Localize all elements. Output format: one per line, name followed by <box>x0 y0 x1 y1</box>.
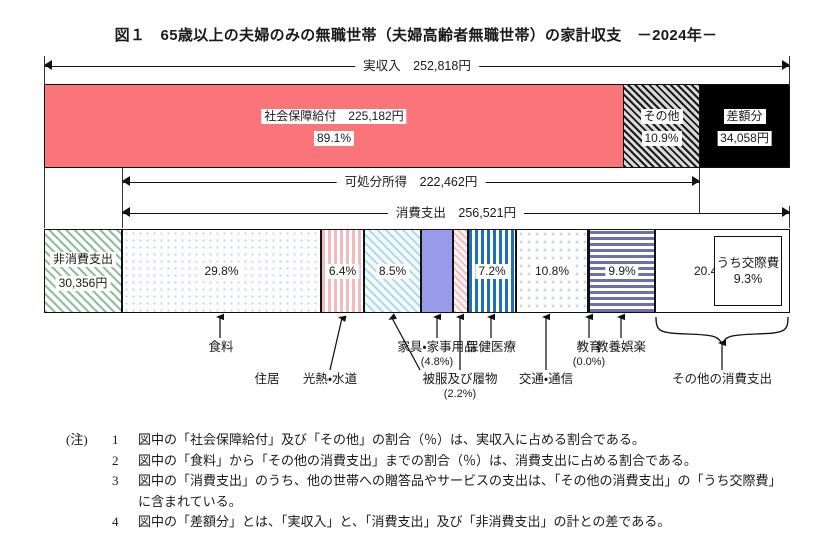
note-text: に含まれている。 <box>138 492 826 513</box>
callout-culture-label: 教養娯楽 <box>596 340 646 354</box>
expenditure-segment-clothing <box>453 229 468 313</box>
income-social-security-amount: 社会保障給付 225,182円 <box>261 109 406 124</box>
income-social-security-percent: 89.1% <box>314 131 354 146</box>
note-number: 1 <box>112 430 138 451</box>
measure-label-consumption-expenditure: 消費支出 256,521円 <box>388 205 524 221</box>
callout-housing-label: 住居 <box>254 372 279 386</box>
note-row: (注) 1 図中の「社会保障給付」及び「その他」の割合（％）は、実収入に占める割… <box>66 430 826 451</box>
callout-culture: 教養娯楽 <box>587 340 655 355</box>
housing-percent: 6.4% <box>326 264 359 279</box>
callout-medical-label: 保健医療 <box>466 340 516 354</box>
brace-other-consumption <box>656 317 788 344</box>
measure-label-actual-income: 実収入 252,818円 <box>355 58 479 74</box>
culture-percent: 9.9% <box>605 264 638 279</box>
transport-percent: 10.8% <box>532 264 572 279</box>
guide-tick-bar-left <box>44 168 45 228</box>
note-text: 図中の「消費支出」のうち、他の世帯への贈答品やサービスの支出は、「その他の消費支… <box>138 471 826 492</box>
callout-clothing-label: 被服及び履物 <box>422 372 497 386</box>
expenditure-segment-non-consumption: 非消費支出 30,356円 <box>44 229 122 313</box>
note-row: 3 図中の「消費支出」のうち、他の世帯への贈答品やサービスの支出は、「その他の消… <box>66 471 826 492</box>
arrow-cap-right <box>692 176 700 186</box>
callout-medical: 保健医療 <box>457 340 525 355</box>
non-consumption-amount: 30,356円 <box>56 276 111 291</box>
callout-education-sub: (0.0%) <box>563 355 615 370</box>
income-other-name: その他 <box>640 109 682 124</box>
note-number: 4 <box>112 512 138 533</box>
guide-tick-income-right <box>789 56 790 86</box>
note-text: 図中の「差額分」とは、「実収入」と、「消費支出」及び「非消費支出」の計との差であ… <box>138 512 826 533</box>
deficit-name: 差額分 <box>723 109 765 124</box>
page-title: 図１ 65歳以上の夫婦のみの無職世帯（夫婦高齢者無職世帯）の家計収支 －2024… <box>0 24 832 45</box>
household-budget-figure: 図１ 65歳以上の夫婦のみの無職世帯（夫婦高齢者無職世帯）の家計収支 －2024… <box>0 0 832 556</box>
note-number: 3 <box>112 471 138 492</box>
expenditure-segment-medical: 7.2% <box>468 229 516 313</box>
measure-actual-income: 実収入 252,818円 <box>44 60 790 74</box>
income-other-percent: 10.9% <box>641 131 681 146</box>
expenditure-segment-food: 29.8% <box>122 229 321 313</box>
deficit-amount: 34,058円 <box>717 131 772 146</box>
callout-food: 食料 <box>200 340 242 355</box>
social-expense-name: うち交際費 <box>717 255 780 271</box>
utilities-percent: 8.5% <box>376 264 409 279</box>
callout-utilities: 光熱・水道 <box>288 372 372 387</box>
income-segment-other: その他 10.9% <box>623 84 700 168</box>
callout-transport-label: 交通・通信 <box>519 372 573 386</box>
callout-housing: 住居 <box>246 372 288 387</box>
expenditure-segment-housing: 6.4% <box>321 229 364 313</box>
notes-tag: (注) <box>66 430 112 451</box>
income-segment-deficit: 差額分 34,058円 <box>699 84 790 168</box>
social-expense-percent: 9.3% <box>734 271 763 287</box>
arrow-cap-left <box>122 176 130 186</box>
note-text: 図中の「食料」から「その他の消費支出」までの割合（％）は、消費支出に占める割合で… <box>138 451 826 472</box>
note-number: 2 <box>112 451 138 472</box>
notes-block: (注) 1 図中の「社会保障給付」及び「その他」の割合（％）は、実収入に占める割… <box>66 430 826 533</box>
note-row: 4 図中の「差額分」とは、「実収入」と、「消費支出」及び「非消費支出」の計との差… <box>66 512 826 533</box>
callout-clothing-sub: (2.2%) <box>385 387 535 402</box>
callout-utilities-label: 光熱・水道 <box>303 372 357 386</box>
expenditure-segment-transport: 10.8% <box>516 229 588 313</box>
arrow-cap-left <box>44 60 52 70</box>
note-text: 図中の「社会保障給付」及び「その他」の割合（％）は、実収入に占める割合である。 <box>138 430 826 451</box>
measure-label-disposable-income: 可処分所得 222,462円 <box>337 174 486 190</box>
callout-furniture-sub: (4.8%) <box>362 355 512 370</box>
note-row: に含まれている。 <box>66 492 826 513</box>
measure-disposable-income: 可処分所得 222,462円 <box>122 176 700 190</box>
income-segment-social-security: 社会保障給付 225,182円 89.1% <box>44 84 624 168</box>
measure-consumption-expenditure: 消費支出 256,521円 <box>122 207 790 221</box>
note-row: 2 図中の「食料」から「その他の消費支出」までの割合（％）は、消費支出に占める割… <box>66 451 826 472</box>
guide-tick-left <box>44 56 45 86</box>
expenditure-segment-culture: 9.9% <box>589 229 655 313</box>
callout-transport: 交通・通信 <box>504 372 588 387</box>
callout-food-label: 食料 <box>208 340 233 354</box>
callout-other-consumption: その他の消費支出 <box>652 372 792 387</box>
arrow-cap-right <box>782 207 790 217</box>
inner-box-social-expense: うち交際費 9.3% <box>714 236 782 306</box>
arrow-cap-left <box>122 207 130 217</box>
expenditure-segment-utilities: 8.5% <box>364 229 421 313</box>
food-percent: 29.8% <box>201 264 241 279</box>
non-consumption-name: 非消費支出 <box>50 252 116 267</box>
medical-percent: 7.2% <box>475 264 508 279</box>
callout-other-consumption-label: その他の消費支出 <box>672 372 772 386</box>
expenditure-segment-furniture <box>421 229 453 313</box>
